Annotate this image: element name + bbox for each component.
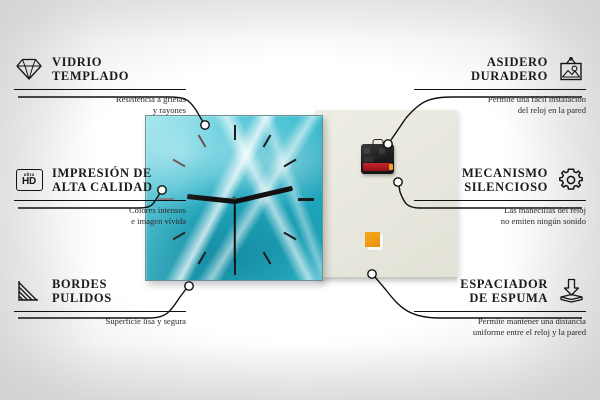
feature-desc-line1: Resistencia a grietas: [14, 94, 186, 105]
feature-vidrio-templado[interactable]: VIDRIO TEMPLADO Resistencia a grietas y …: [14, 52, 186, 115]
feature-rule: [414, 200, 586, 201]
feature-rule: [14, 200, 186, 201]
feature-desc: Las manecillas del reloj no emiten ningú…: [414, 205, 586, 226]
feature-title-line1: ASIDERO: [414, 55, 548, 69]
battery: [363, 163, 392, 171]
feature-desc: Permite una fácil instalación del reloj …: [414, 94, 586, 115]
polished-edges-icon: [14, 276, 44, 306]
feature-title-line2: PULIDOS: [52, 291, 112, 305]
feature-title-line1: IMPRESIÓN DE: [52, 166, 153, 180]
feature-bordes-pulidos[interactable]: BORDES PULIDOS Superficie lisa y segura: [14, 274, 186, 327]
feature-title-line2: DE ESPUMA: [414, 291, 548, 305]
feature-asidero-duradero[interactable]: ASIDERO DURADERO Permite una fácil insta…: [414, 52, 586, 115]
feature-title: VIDRIO TEMPLADO: [52, 55, 129, 83]
clock-mechanism: [361, 144, 394, 174]
feature-rule: [14, 89, 186, 90]
feature-title-line2: ALTA CALIDAD: [52, 180, 153, 194]
feature-desc-line1: Permite una fácil instalación: [414, 94, 586, 105]
feature-title: ASIDERO DURADERO: [414, 55, 548, 83]
feature-title: IMPRESIÓN DE ALTA CALIDAD: [52, 166, 153, 194]
tick-12: [234, 125, 236, 140]
feature-mecanismo-silencioso[interactable]: MECANISMO SILENCIOSO Las manecillas del …: [414, 163, 586, 226]
feature-desc: Superficie lisa y segura: [14, 316, 186, 327]
foam-spacer: [365, 232, 380, 247]
feature-title-line1: BORDES: [52, 277, 112, 291]
feature-desc-line2: no emiten ningún sonido: [414, 216, 586, 227]
infographic-canvas: VIDRIO TEMPLADO Resistencia a grietas y …: [0, 0, 600, 400]
feature-desc: Resistencia a grietas y rayones: [14, 94, 186, 115]
product-photo: [143, 103, 457, 285]
feature-espaciador-de-espuma[interactable]: ESPACIADOR DE ESPUMA Permite mantener un…: [414, 274, 586, 337]
feature-title-line1: MECANISMO: [414, 166, 548, 180]
feature-title-line1: ESPACIADOR: [414, 277, 548, 291]
diamond-icon: [14, 54, 44, 84]
feature-impresion-alta-calidad[interactable]: ultra HD IMPRESIÓN DE ALTA CALIDAD Color…: [14, 163, 186, 226]
feature-title-line1: VIDRIO: [52, 55, 129, 69]
hanger-lug-icon: [372, 139, 383, 146]
feature-desc-line1: Las manecillas del reloj: [414, 205, 586, 216]
foam-spacer-icon: [556, 276, 586, 306]
tick-3: [298, 198, 314, 201]
feature-title: MECANISMO SILENCIOSO: [414, 166, 548, 194]
gear-icon: [556, 165, 586, 195]
feature-desc-line2: e imagen vívida: [14, 216, 186, 227]
picture-hanger-icon: [556, 54, 586, 84]
feature-rule: [414, 89, 586, 90]
feature-desc-line2: uniforme entre el reloj y la pared: [414, 327, 586, 338]
feature-desc: Colores intensos e imagen vívida: [14, 205, 186, 226]
ultra-hd-icon-large-text: HD: [22, 177, 36, 187]
second-hand: [234, 201, 236, 263]
feature-desc-line2: del reloj en la pared: [414, 105, 586, 116]
feature-desc-line2: y rayones: [14, 105, 186, 116]
feature-desc-line1: Colores intensos: [14, 205, 186, 216]
feature-rule: [414, 311, 586, 312]
feature-desc-line1: Permite mantener una distancia: [414, 316, 586, 327]
mechanism-detail: [364, 148, 390, 162]
feature-desc: Permite mantener una distancia uniforme …: [414, 316, 586, 337]
feature-title: BORDES PULIDOS: [52, 277, 112, 305]
clock-pivot: [233, 197, 236, 200]
feature-title-line2: TEMPLADO: [52, 69, 129, 83]
ultra-hd-icon: ultra HD: [14, 165, 44, 195]
feature-title-line2: SILENCIOSO: [414, 180, 548, 194]
feature-title: ESPACIADOR DE ESPUMA: [414, 277, 548, 305]
feature-desc-line1: Superficie lisa y segura: [14, 316, 186, 327]
feature-title-line2: DURADERO: [414, 69, 548, 83]
feature-rule: [14, 311, 186, 312]
